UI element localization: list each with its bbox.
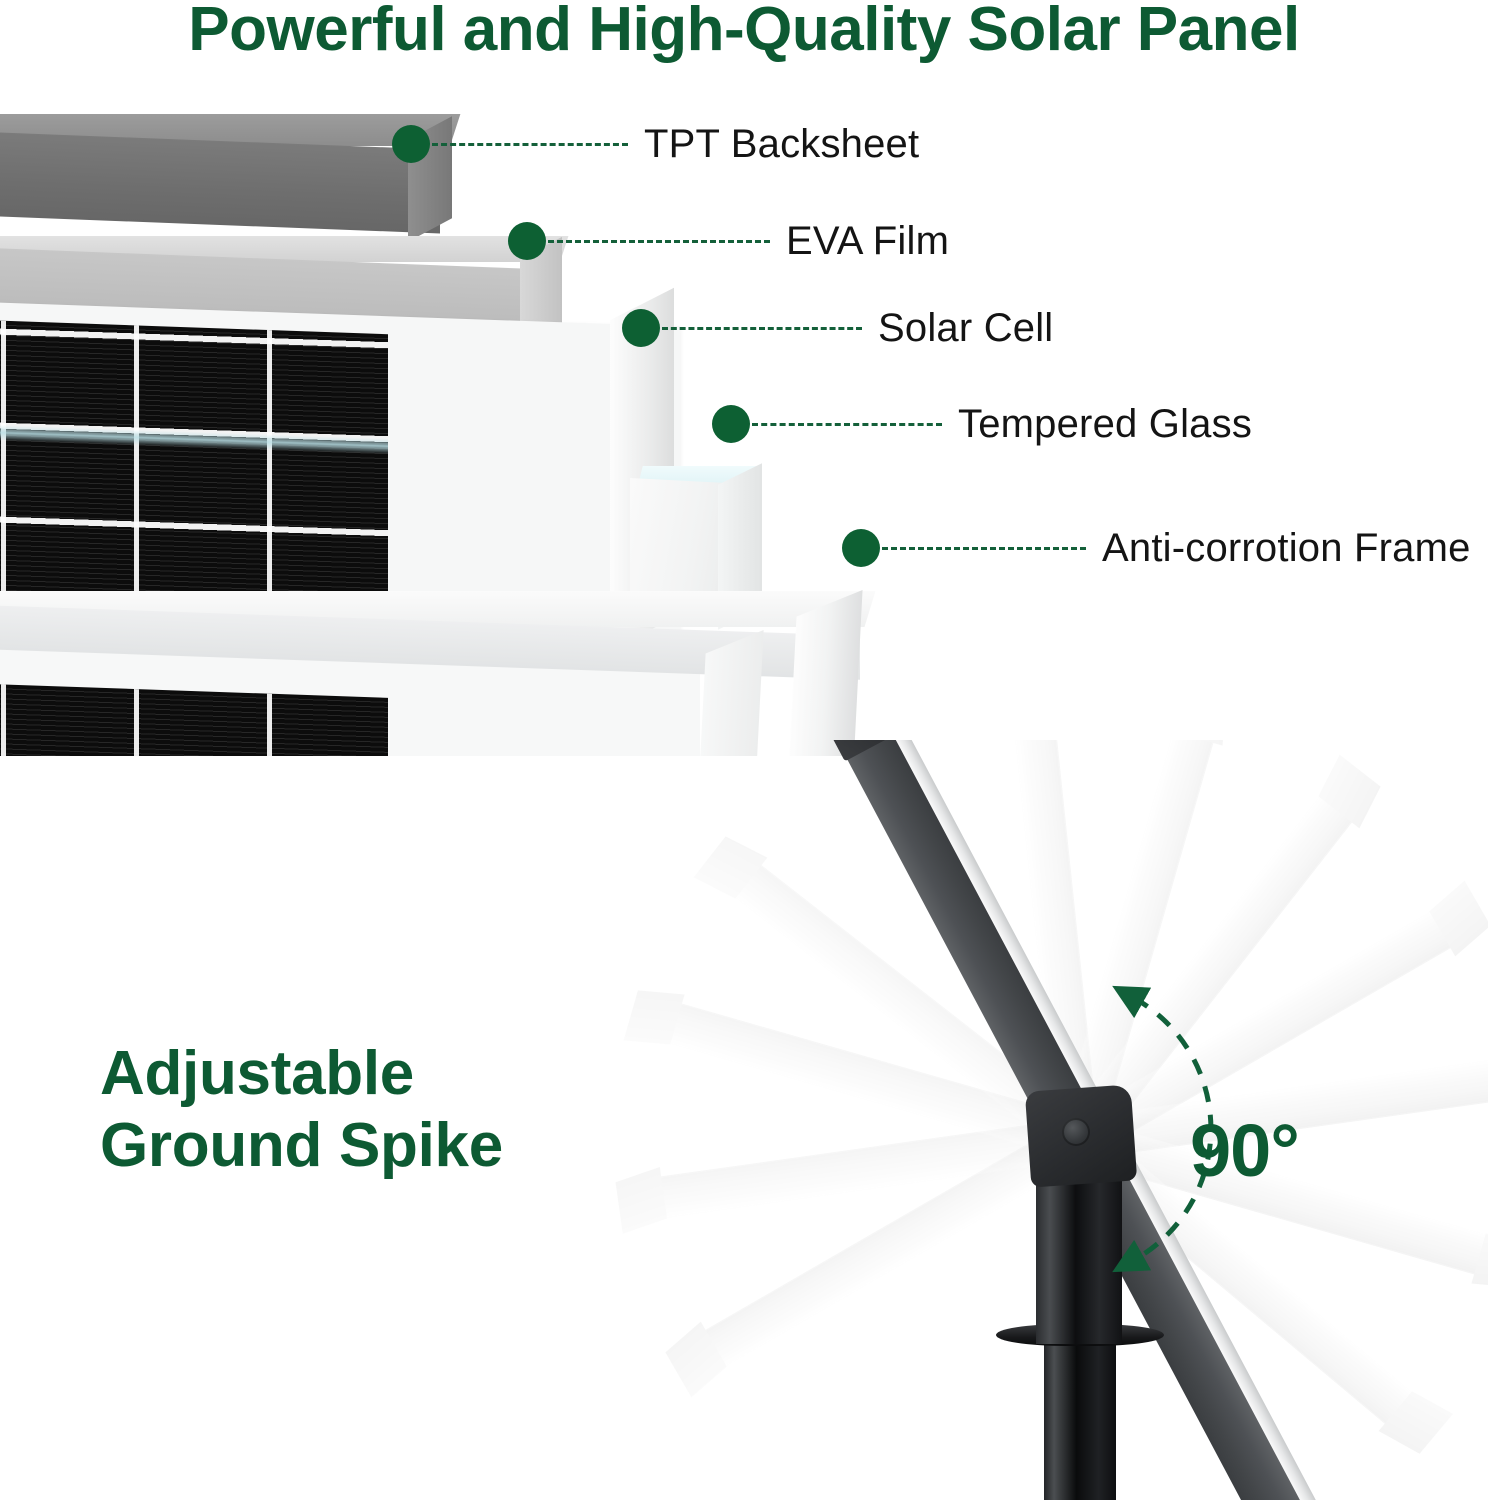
callout-tempered-glass: Tempered Glass <box>712 404 1252 444</box>
callout-leader-line <box>662 327 862 330</box>
solar-cell-grid <box>0 312 388 625</box>
callout-tpt-backsheet: TPT Backsheet <box>392 124 919 164</box>
ground-spike-heading-line1: Adjustable <box>100 1038 503 1110</box>
cell-finger-lines <box>0 312 388 625</box>
callout-label-eva-film: EVA Film <box>786 219 949 264</box>
page-title: Powerful and High-Quality Solar Panel <box>0 0 1488 65</box>
callout-dot-icon <box>508 222 546 260</box>
cell-finger-lines <box>0 675 388 756</box>
callout-leader-line <box>432 143 628 146</box>
callout-label-tempered-glass: Tempered Glass <box>958 402 1252 447</box>
angle-value-label: 90° <box>1190 1108 1299 1193</box>
callout-dot-icon <box>622 309 660 347</box>
callout-dot-icon <box>712 405 750 443</box>
callout-leader-line <box>548 240 770 243</box>
adjustable-ground-spike-illustration: 90° <box>600 740 1488 1500</box>
callout-dot-icon <box>842 529 880 567</box>
callout-eva-film: EVA Film <box>508 221 949 261</box>
callout-solar-cell: Solar Cell <box>622 308 1053 348</box>
callout-leader-line <box>882 547 1086 550</box>
callout-dot-icon <box>392 125 430 163</box>
callout-label-tpt-backsheet: TPT Backsheet <box>644 122 919 167</box>
callout-leader-line <box>752 423 942 426</box>
callout-label-anti-corrotion-frame: Anti-corrotion Frame <box>1102 526 1471 571</box>
ground-spike-heading-line2: Ground Spike <box>100 1110 503 1182</box>
ground-spike-heading: Adjustable Ground Spike <box>100 1038 503 1182</box>
solar-cell-grid-lower <box>0 675 388 756</box>
ground-spike-pole-lower <box>1044 1340 1116 1500</box>
callout-label-solar-cell: Solar Cell <box>878 306 1053 351</box>
callout-anti-corrotion-frame: Anti-corrotion Frame <box>842 528 1471 568</box>
